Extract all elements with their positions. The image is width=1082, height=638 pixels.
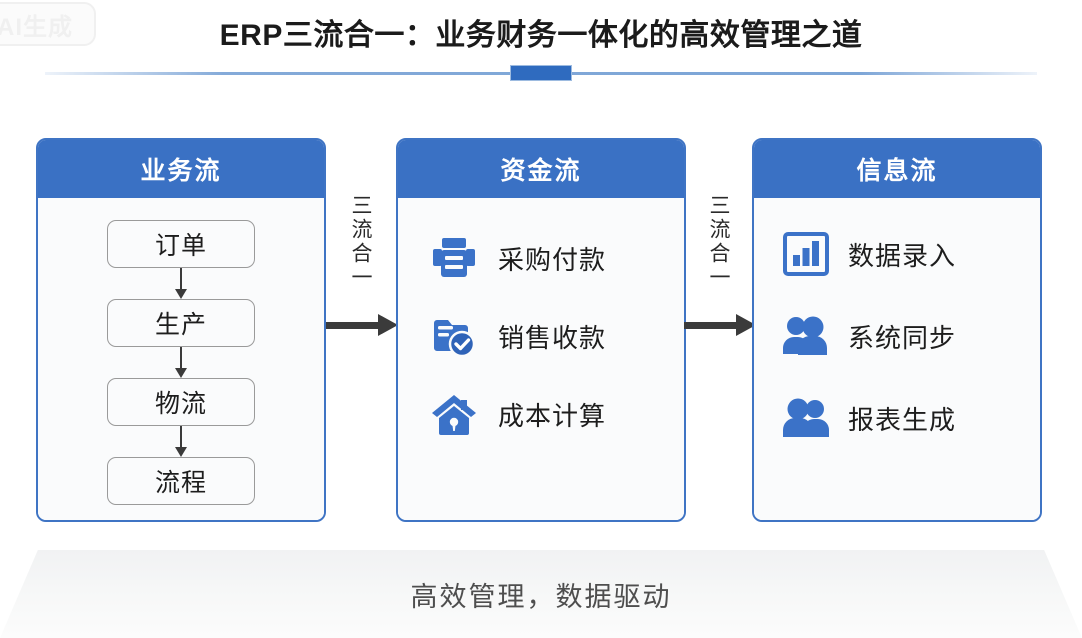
- flow-step-process[interactable]: 流程: [107, 457, 255, 505]
- list-item[interactable]: 系统同步: [754, 310, 1040, 362]
- list-item[interactable]: 数据录入: [754, 228, 1040, 280]
- title-block: ERP三流合一：业务财务一体化的高效管理之道: [0, 14, 1082, 58]
- bar-chart-icon: [780, 228, 832, 280]
- card-capital-flow[interactable]: 资金流 采购付款: [396, 138, 686, 522]
- list-item[interactable]: 报表生成: [754, 392, 1040, 444]
- card-information-flow[interactable]: 信息流 数据录入: [752, 138, 1042, 522]
- title-divider-accent: [510, 65, 572, 81]
- ai-generated-watermark: AI生成: [0, 2, 96, 46]
- card-header-business-flow: 业务流: [38, 140, 324, 198]
- arrow-right-icon: [684, 314, 758, 336]
- arrow-right-icon: [326, 314, 400, 336]
- two-people-icon: [780, 392, 832, 444]
- list-item-label: 采购付款: [498, 240, 606, 277]
- list-item[interactable]: 采购付款: [398, 232, 684, 284]
- card-title: 信息流: [856, 151, 937, 187]
- house-key-icon: [428, 388, 480, 440]
- card-title: 资金流: [500, 151, 581, 187]
- list-item[interactable]: 销售收款: [398, 310, 684, 362]
- page-title: ERP三流合一：业务财务一体化的高效管理之道: [0, 14, 1082, 58]
- connector-label: 三流合一: [684, 186, 752, 298]
- flow-step-label: 流程: [155, 463, 207, 499]
- invoice-printer-icon: [428, 232, 480, 284]
- list-item[interactable]: 成本计算: [398, 388, 684, 440]
- flow-step-label: 生产: [155, 305, 207, 341]
- slide-stage: AI生成 ERP三流合一：业务财务一体化的高效管理之道 业务流 订单 生产 物流: [0, 0, 1082, 638]
- flow-step-order[interactable]: 订单: [107, 220, 255, 268]
- connector-label: 三流合一: [326, 186, 394, 298]
- footer-caption: 高效管理，数据驱动: [0, 575, 1082, 614]
- flow-step-logistics[interactable]: 物流: [107, 378, 255, 426]
- flow-arrow-down-icon: [174, 426, 188, 457]
- flow-step-production[interactable]: 生产: [107, 299, 255, 347]
- flow-step-label: 订单: [155, 226, 207, 262]
- flow-chain: 订单 生产 物流 流程: [38, 198, 324, 505]
- card-header-information-flow: 信息流: [754, 140, 1040, 198]
- folder-check-icon: [428, 310, 480, 362]
- capital-flow-list: 采购付款 销售收款: [398, 198, 684, 440]
- connector-business-to-capital: 三流合一: [326, 186, 394, 346]
- card-body-information-flow: 数据录入 系统同步: [754, 198, 1040, 520]
- card-body-capital-flow: 采购付款 销售收款: [398, 198, 684, 520]
- flow-arrow-down-icon: [174, 347, 188, 378]
- list-item-label: 系统同步: [848, 318, 956, 355]
- card-body-business-flow: 订单 生产 物流 流程: [38, 198, 324, 520]
- list-item-label: 报表生成: [848, 400, 956, 437]
- list-item-label: 成本计算: [498, 396, 606, 433]
- card-title: 业务流: [140, 151, 221, 187]
- flow-step-label: 物流: [155, 384, 207, 420]
- information-flow-list: 数据录入 系统同步: [754, 198, 1040, 444]
- list-item-label: 数据录入: [848, 236, 956, 273]
- watermark-label: AI生成: [0, 7, 73, 42]
- card-header-capital-flow: 资金流: [398, 140, 684, 198]
- list-item-label: 销售收款: [498, 318, 606, 355]
- two-people-icon: [780, 310, 832, 362]
- connector-capital-to-information: 三流合一: [684, 186, 752, 346]
- flow-arrow-down-icon: [174, 268, 188, 299]
- card-business-flow[interactable]: 业务流 订单 生产 物流 流程: [36, 138, 326, 522]
